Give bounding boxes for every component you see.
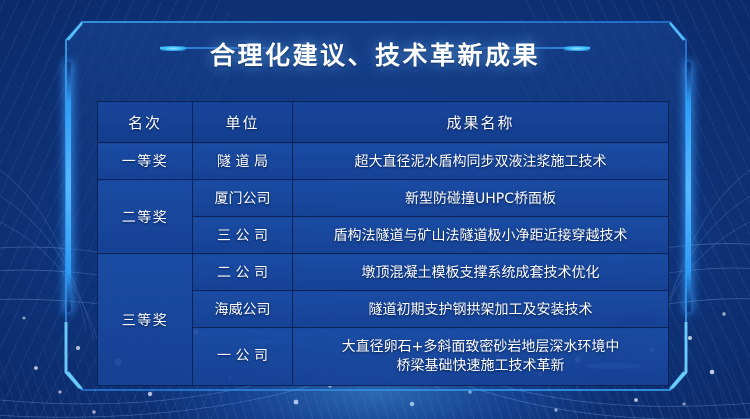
rank-cell-second-prize: 二等奖 xyxy=(98,180,193,254)
table-header-row: 名次 单位 成果名称 xyxy=(98,102,669,143)
unit-cell: 三 公 司 xyxy=(193,217,293,254)
page-title: 合理化建议、技术革新成果 xyxy=(0,36,750,72)
achievement-cell: 超大直径泥水盾构同步双液注浆施工技术 xyxy=(293,143,669,180)
achievement-cell: 墩顶混凝土模板支撑系统成套技术优化 xyxy=(293,254,669,291)
panel-edge-glow-right xyxy=(686,62,691,312)
table-row: 二等奖 厦门公司 新型防碰撞UHPC桥面板 xyxy=(98,180,669,217)
column-header-unit: 单位 xyxy=(193,102,293,143)
achievement-line-1: 大直径卵石+多斜面致密砂岩地层深水环境中 xyxy=(342,339,620,355)
unit-cell: 隧 道 局 xyxy=(193,143,293,180)
achievement-cell: 新型防碰撞UHPC桥面板 xyxy=(293,180,669,217)
slide-stage: 合理化建议、技术革新成果 名次 单位 成果名称 一等奖 隧 道 局 超大直径泥水… xyxy=(0,0,750,419)
unit-cell: 一 公 司 xyxy=(193,328,293,386)
achievement-cell: 隧道初期支护钢拱架加工及安装技术 xyxy=(293,291,669,328)
table-row: 三等奖 二 公 司 墩顶混凝土模板支撑系统成套技术优化 xyxy=(98,254,669,291)
table-row: 一等奖 隧 道 局 超大直径泥水盾构同步双液注浆施工技术 xyxy=(98,143,669,180)
achievement-cell: 盾构法隧道与矿山法隧道极小净距近接穿越技术 xyxy=(293,217,669,254)
achievement-line-2: 桥梁基础快速施工技术革新 xyxy=(397,358,565,374)
unit-cell: 二 公 司 xyxy=(193,254,293,291)
results-table: 名次 单位 成果名称 一等奖 隧 道 局 超大直径泥水盾构同步双液注浆施工技术 … xyxy=(97,101,669,386)
column-header-achievement: 成果名称 xyxy=(293,102,669,143)
unit-cell: 海威公司 xyxy=(193,291,293,328)
unit-cell: 厦门公司 xyxy=(193,180,293,217)
rank-cell-third-prize: 三等奖 xyxy=(98,254,193,386)
title-block: 合理化建议、技术革新成果 xyxy=(0,36,750,72)
panel-edge-glow-left xyxy=(66,62,71,312)
column-header-rank: 名次 xyxy=(98,102,193,143)
achievement-cell: 大直径卵石+多斜面致密砂岩地层深水环境中 桥梁基础快速施工技术革新 xyxy=(293,328,669,386)
rank-cell-first-prize: 一等奖 xyxy=(98,143,193,180)
